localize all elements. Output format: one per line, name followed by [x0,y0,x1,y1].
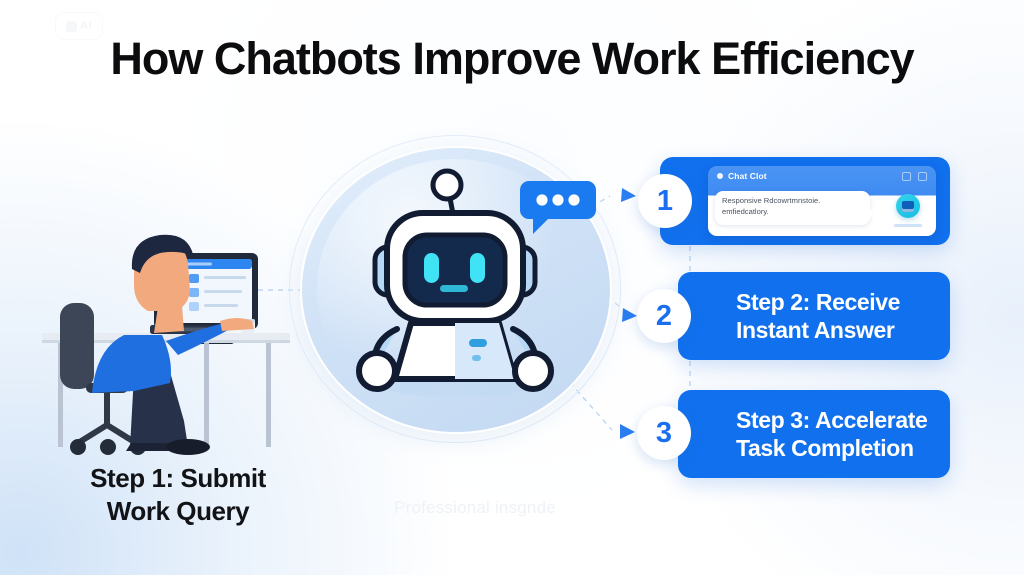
close-icon[interactable] [918,172,927,181]
bubble-tail-icon [869,208,875,218]
step-number-3: 3 [637,406,691,460]
speech-bubble-icon [519,180,597,236]
chat-placeholder-bar [894,224,922,227]
minimize-icon[interactable] [902,172,911,181]
step-card-2-line2: Instant Answer [736,316,954,344]
chat-window-controls[interactable] [902,172,927,181]
step-card-3[interactable]: Step 3: Accelerate Task Completion [678,390,950,478]
chat-window-header: Chat Clot [708,166,936,186]
chat-message-line-1: Responsive Rdcowrtmnstoie. [722,196,863,207]
watermark-ai-label: AI [80,20,92,32]
step-number-1: 1 [638,174,692,228]
step-card-3-text: Step 3: Accelerate Task Completion [736,406,954,462]
infographic-canvas: AI How Chatbots Improve Work Efficiency [0,0,1024,575]
step-number-2: 2 [637,289,691,343]
step-1-label-line2: Work Query [28,495,328,528]
chat-window-title: Chat Clot [728,171,767,181]
step-card-2-line1: Step 2: Receive [736,288,954,316]
chat-window-mock[interactable]: Chat Clot Responsive Rdcowrtmnstoie. emf… [708,166,936,236]
chat-message-line-2: emfiedcatlory. [722,207,863,218]
step-card-1[interactable]: Chat Clot Responsive Rdcowrtmnstoie. emf… [660,157,950,245]
bot-avatar-icon [896,194,920,218]
robot-mascot-zone [283,133,627,445]
ghost-caption: Professional insgnde [330,498,620,518]
step-1-label-line1: Step 1: Submit [28,462,328,495]
step-card-3-line2: Task Completion [736,434,954,462]
step-card-3-line1: Step 3: Accelerate [736,406,954,434]
chat-message-bubble: Responsive Rdcowrtmnstoie. emfiedcatlory… [715,191,870,225]
page-title: How Chatbots Improve Work Efficiency [0,36,1024,83]
step-card-2[interactable]: Step 2: Receive Instant Answer [678,272,950,360]
chat-window-body: Responsive Rdcowrtmnstoie. emfiedcatlory… [708,186,936,236]
status-dot-icon [717,173,723,179]
step-card-2-text: Step 2: Receive Instant Answer [736,288,954,344]
step-1-label: Step 1: Submit Work Query [28,462,328,528]
watermark-glyph-icon [66,21,77,32]
